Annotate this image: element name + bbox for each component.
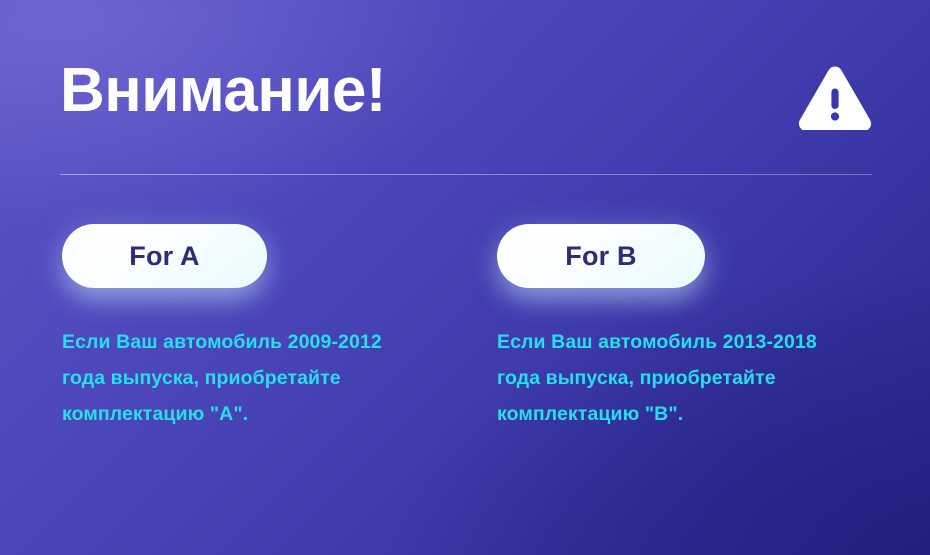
option-column-b: For B Если Ваш автомобиль 2013-2018 года… [497,224,897,432]
option-a-description-line: Если Ваш автомобиль 2009-2012 [62,324,462,360]
option-b-description-line: Если Ваш автомобиль 2013-2018 [497,324,897,360]
option-b-description-line: комплектацию "B". [497,396,897,432]
option-b-description: Если Ваш автомобиль 2013-2018 года выпус… [497,324,897,432]
warning-triangle-icon [798,66,872,130]
option-a-description-line: комплектацию "A". [62,396,462,432]
page-title: Внимание! [60,52,872,130]
options-container: For A Если Ваш автомобиль 2009-2012 года… [0,224,930,484]
option-a-description: Если Ваш автомобиль 2009-2012 года выпус… [62,324,462,432]
header-divider [60,174,872,175]
attention-banner: Внимание! For A Если Ваш автомобиль 2009… [0,0,930,555]
option-column-a: For A Если Ваш автомобиль 2009-2012 года… [62,224,462,432]
option-a-description-line: года выпуска, приобретайте [62,360,462,396]
for-b-button[interactable]: For B [497,224,705,288]
for-a-button[interactable]: For A [62,224,267,288]
for-b-button-label: For B [565,243,637,270]
option-b-description-line: года выпуска, приобретайте [497,360,897,396]
banner-header: Внимание! [60,52,872,142]
for-a-button-label: For A [129,243,200,270]
